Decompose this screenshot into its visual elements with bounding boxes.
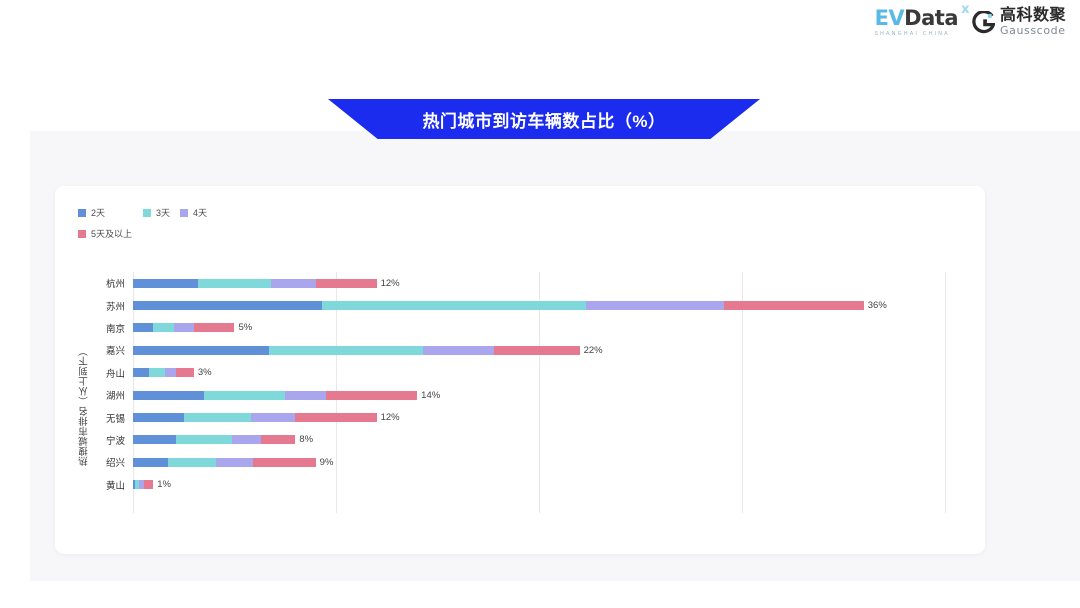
category-label: 黄山 (106, 478, 125, 492)
gausscode-wordmark: 高科数聚 Gausscode (1000, 8, 1066, 36)
category-label: 南京 (106, 321, 125, 335)
gridline-40 (945, 272, 946, 513)
stacked-bar (133, 413, 377, 422)
chart-legend: 2天3天4天5天及以上 (78, 206, 378, 240)
legend-item-2[interactable]: 3天 (143, 206, 170, 219)
bar-value-label: 12% (381, 412, 400, 423)
bar-segment (184, 413, 251, 422)
bar-segment (494, 346, 579, 355)
bar-segment (216, 458, 253, 467)
bar-segment (271, 279, 316, 288)
category-label: 绍兴 (106, 455, 125, 469)
bar-segment (251, 413, 296, 422)
legend-item-1[interactable]: 2天 (78, 206, 105, 219)
chart-bars: 杭州12%苏州36%南京5%嘉兴22%舟山3%湖州14%无锡12%宁波8%绍兴9… (133, 272, 945, 513)
y-axis-title: 热搜城市排名（从上到下） (78, 326, 92, 486)
evdata-wordmark: EVDatax (875, 8, 958, 29)
bar-segment (149, 368, 165, 377)
legend-swatch-icon (143, 209, 151, 217)
bar-value-label: 14% (421, 390, 440, 401)
bar-segment (423, 346, 494, 355)
bar-segment (261, 435, 296, 444)
bar-segment (133, 279, 198, 288)
bar-segment (326, 391, 417, 400)
category-label: 苏州 (106, 299, 125, 313)
evdata-data-text: Data (904, 6, 958, 30)
category-label: 宁波 (106, 433, 125, 447)
legend-swatch-icon (78, 230, 86, 238)
evdata-tagline: SHANGHAI CHINA (875, 32, 950, 37)
logo-bar: EVDatax SHANGHAI CHINA 高科数聚 Gausscode (875, 8, 1066, 37)
bar-value-label: 3% (198, 367, 212, 378)
legend-label: 2天 (91, 206, 105, 219)
bar-segment (194, 323, 235, 332)
category-label: 杭州 (106, 276, 125, 290)
category-label: 无锡 (106, 411, 125, 425)
category-label: 嘉兴 (106, 343, 125, 357)
bar-segment (165, 368, 175, 377)
gausscode-cn-name: 高科数聚 (1000, 8, 1066, 25)
stacked-bar (133, 368, 194, 377)
bar-segment (133, 458, 168, 467)
legend-swatch-icon (78, 209, 86, 217)
bar-segment (133, 413, 184, 422)
bar-segment (285, 391, 326, 400)
bar-segment (168, 458, 217, 467)
category-label: 湖州 (106, 388, 125, 402)
bar-segment (204, 391, 285, 400)
bar-value-label: 1% (157, 479, 171, 490)
gausscode-logo: 高科数聚 Gausscode (972, 8, 1066, 36)
chart-bar-row[interactable]: 绍兴9% (133, 451, 945, 473)
legend-swatch-icon (180, 209, 188, 217)
gausscode-en-name: Gausscode (1000, 25, 1066, 37)
chart-bar-row[interactable]: 南京5% (133, 317, 945, 339)
chart-plot-area: 杭州12%苏州36%南京5%嘉兴22%舟山3%湖州14%无锡12%宁波8%绍兴9… (133, 272, 945, 513)
bar-value-label: 8% (299, 434, 313, 445)
legend-label: 3天 (156, 206, 170, 219)
bar-segment (133, 301, 322, 310)
chart-bar-row[interactable]: 杭州12% (133, 272, 945, 294)
evdata-logo: EVDatax SHANGHAI CHINA (875, 8, 958, 37)
bar-segment (232, 435, 260, 444)
legend-item-4[interactable]: 5天及以上 (78, 227, 132, 240)
legend-label: 4天 (193, 206, 207, 219)
chart-bar-row[interactable]: 嘉兴22% (133, 339, 945, 361)
bar-segment (133, 346, 269, 355)
stacked-bar (133, 279, 377, 288)
page-title-banner: 热门城市到访车辆数占比（%） (328, 99, 760, 139)
stacked-bar (133, 301, 864, 310)
evdata-superscript-x: x (961, 3, 969, 16)
y-axis-title-text: 热搜城市排名（从上到下） (78, 346, 92, 466)
bar-value-label: 22% (584, 345, 603, 356)
bar-segment (322, 301, 586, 310)
chart-bar-row[interactable]: 宁波8% (133, 429, 945, 451)
bar-segment (133, 435, 176, 444)
stacked-bar (133, 391, 417, 400)
bar-value-label: 12% (381, 278, 400, 289)
bar-segment (295, 413, 376, 422)
bar-segment (176, 368, 194, 377)
chart-bar-row[interactable]: 黄山1% (133, 474, 945, 496)
bar-value-label: 9% (320, 457, 334, 468)
bar-segment (133, 323, 153, 332)
bar-value-label: 5% (238, 322, 252, 333)
bar-segment (586, 301, 724, 310)
gausscode-g-mark-icon (972, 11, 995, 34)
bar-segment (133, 368, 149, 377)
stacked-bar (133, 323, 234, 332)
bar-segment (724, 301, 864, 310)
chart-bar-row[interactable]: 湖州14% (133, 384, 945, 406)
legend-item-3[interactable]: 4天 (180, 206, 207, 219)
chart-bar-row[interactable]: 苏州36% (133, 294, 945, 316)
stacked-bar (133, 480, 153, 489)
bar-segment (144, 480, 153, 489)
evdata-ev-text: EV (875, 6, 905, 30)
bar-segment (198, 279, 271, 288)
bar-segment (153, 323, 173, 332)
category-label: 舟山 (106, 366, 125, 380)
bar-value-label: 36% (868, 300, 887, 311)
chart-bar-row[interactable]: 舟山3% (133, 362, 945, 384)
bar-segment (174, 323, 194, 332)
bar-segment (269, 346, 423, 355)
stacked-bar (133, 346, 580, 355)
bar-segment (176, 435, 233, 444)
stacked-bar (133, 435, 295, 444)
bar-segment (316, 279, 377, 288)
bar-segment (133, 391, 204, 400)
bar-segment (253, 458, 316, 467)
chart-bar-row[interactable]: 无锡12% (133, 406, 945, 428)
legend-label: 5天及以上 (91, 227, 132, 240)
stacked-bar (133, 458, 316, 467)
